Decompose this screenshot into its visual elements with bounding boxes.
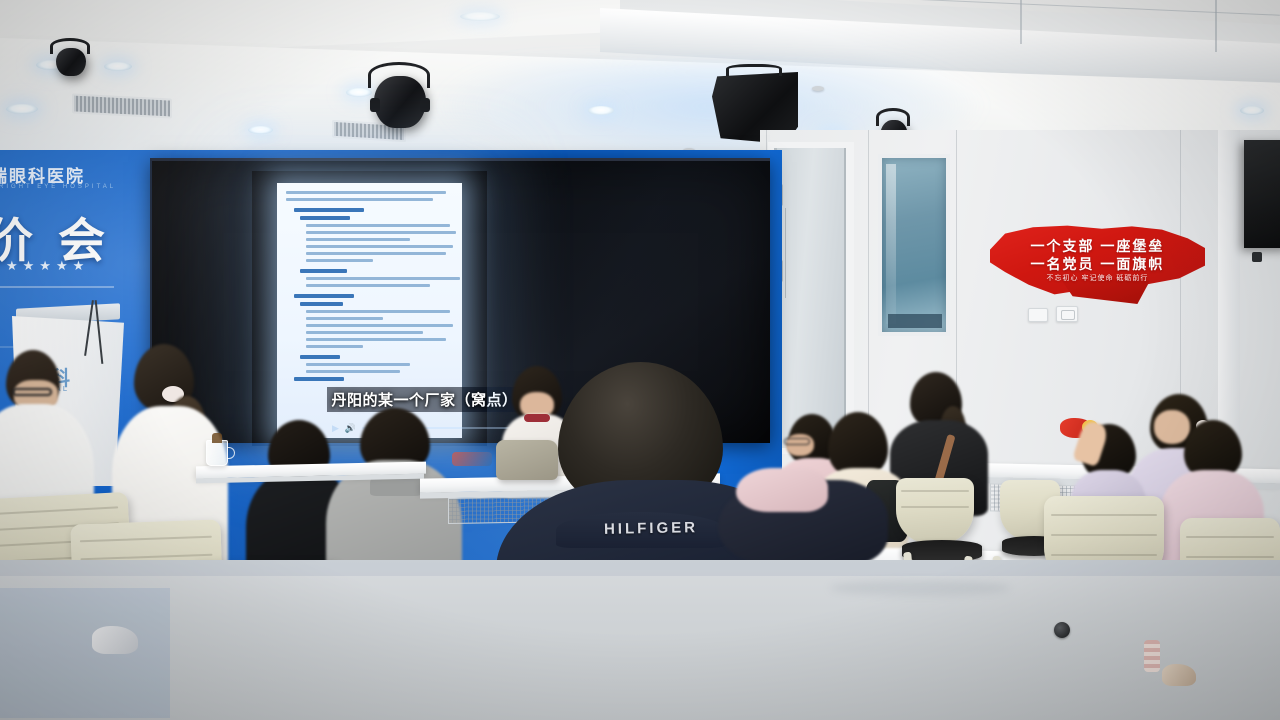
party-slogan-flag: 一个支部 一座堡垒 一名党员 一面旗帜 不忘初心 牢记使命 砥砺前行 xyxy=(990,216,1205,296)
stage-light xyxy=(48,38,96,80)
speaker-bracket xyxy=(726,64,782,76)
downlight-icon xyxy=(6,104,38,114)
glass-mug xyxy=(206,440,228,466)
floor xyxy=(0,560,1280,720)
eyeglasses xyxy=(12,388,52,396)
flag-line-1: 一个支部 一座堡垒 xyxy=(990,236,1205,256)
power-outlet[interactable] xyxy=(1056,306,1078,322)
ceiling-tile-line xyxy=(1215,0,1217,52)
smoke-detector-icon xyxy=(812,86,824,91)
chair-caster xyxy=(1054,622,1070,638)
ceiling-tile-line xyxy=(1020,0,1022,44)
downlight-icon xyxy=(1240,106,1264,115)
stage-light xyxy=(362,62,440,134)
wall-mounted-display xyxy=(1244,140,1280,248)
rating-stars: ★★★★★ xyxy=(6,258,89,274)
shoe xyxy=(1162,664,1196,686)
hospital-name-en: BRIGHT EYE HOSPITAL xyxy=(0,184,116,190)
jacket-brand-text: HILFIGER xyxy=(586,519,716,538)
floor-shadow xyxy=(830,580,1010,596)
pink-sleeve xyxy=(736,468,828,512)
stationery xyxy=(452,452,492,466)
wall-bracket xyxy=(1252,252,1262,262)
sock xyxy=(1144,640,1160,672)
downlight-icon xyxy=(588,106,614,115)
downlight-icon xyxy=(248,126,273,134)
downlight-icon xyxy=(460,12,500,21)
subtitle-text: 丹阳的某一个厂家（窝点） xyxy=(331,389,517,410)
light-switch[interactable] xyxy=(1028,308,1048,322)
conference-room-photo: 一个支部 一座堡垒 一名党员 一面旗帜 不忘初心 牢记使命 砥砺前行 瑞眼科医院… xyxy=(0,0,1280,720)
shoe xyxy=(92,626,138,654)
interior-window xyxy=(878,154,950,336)
downlight-icon xyxy=(104,62,132,71)
floor-reflection xyxy=(0,588,170,718)
chair[interactable] xyxy=(896,478,974,544)
flag-line-3: 不忘初心 牢记使命 砥砺前行 xyxy=(990,273,1205,283)
flag-line-2: 一名党员 一面旗帜 xyxy=(990,254,1205,274)
